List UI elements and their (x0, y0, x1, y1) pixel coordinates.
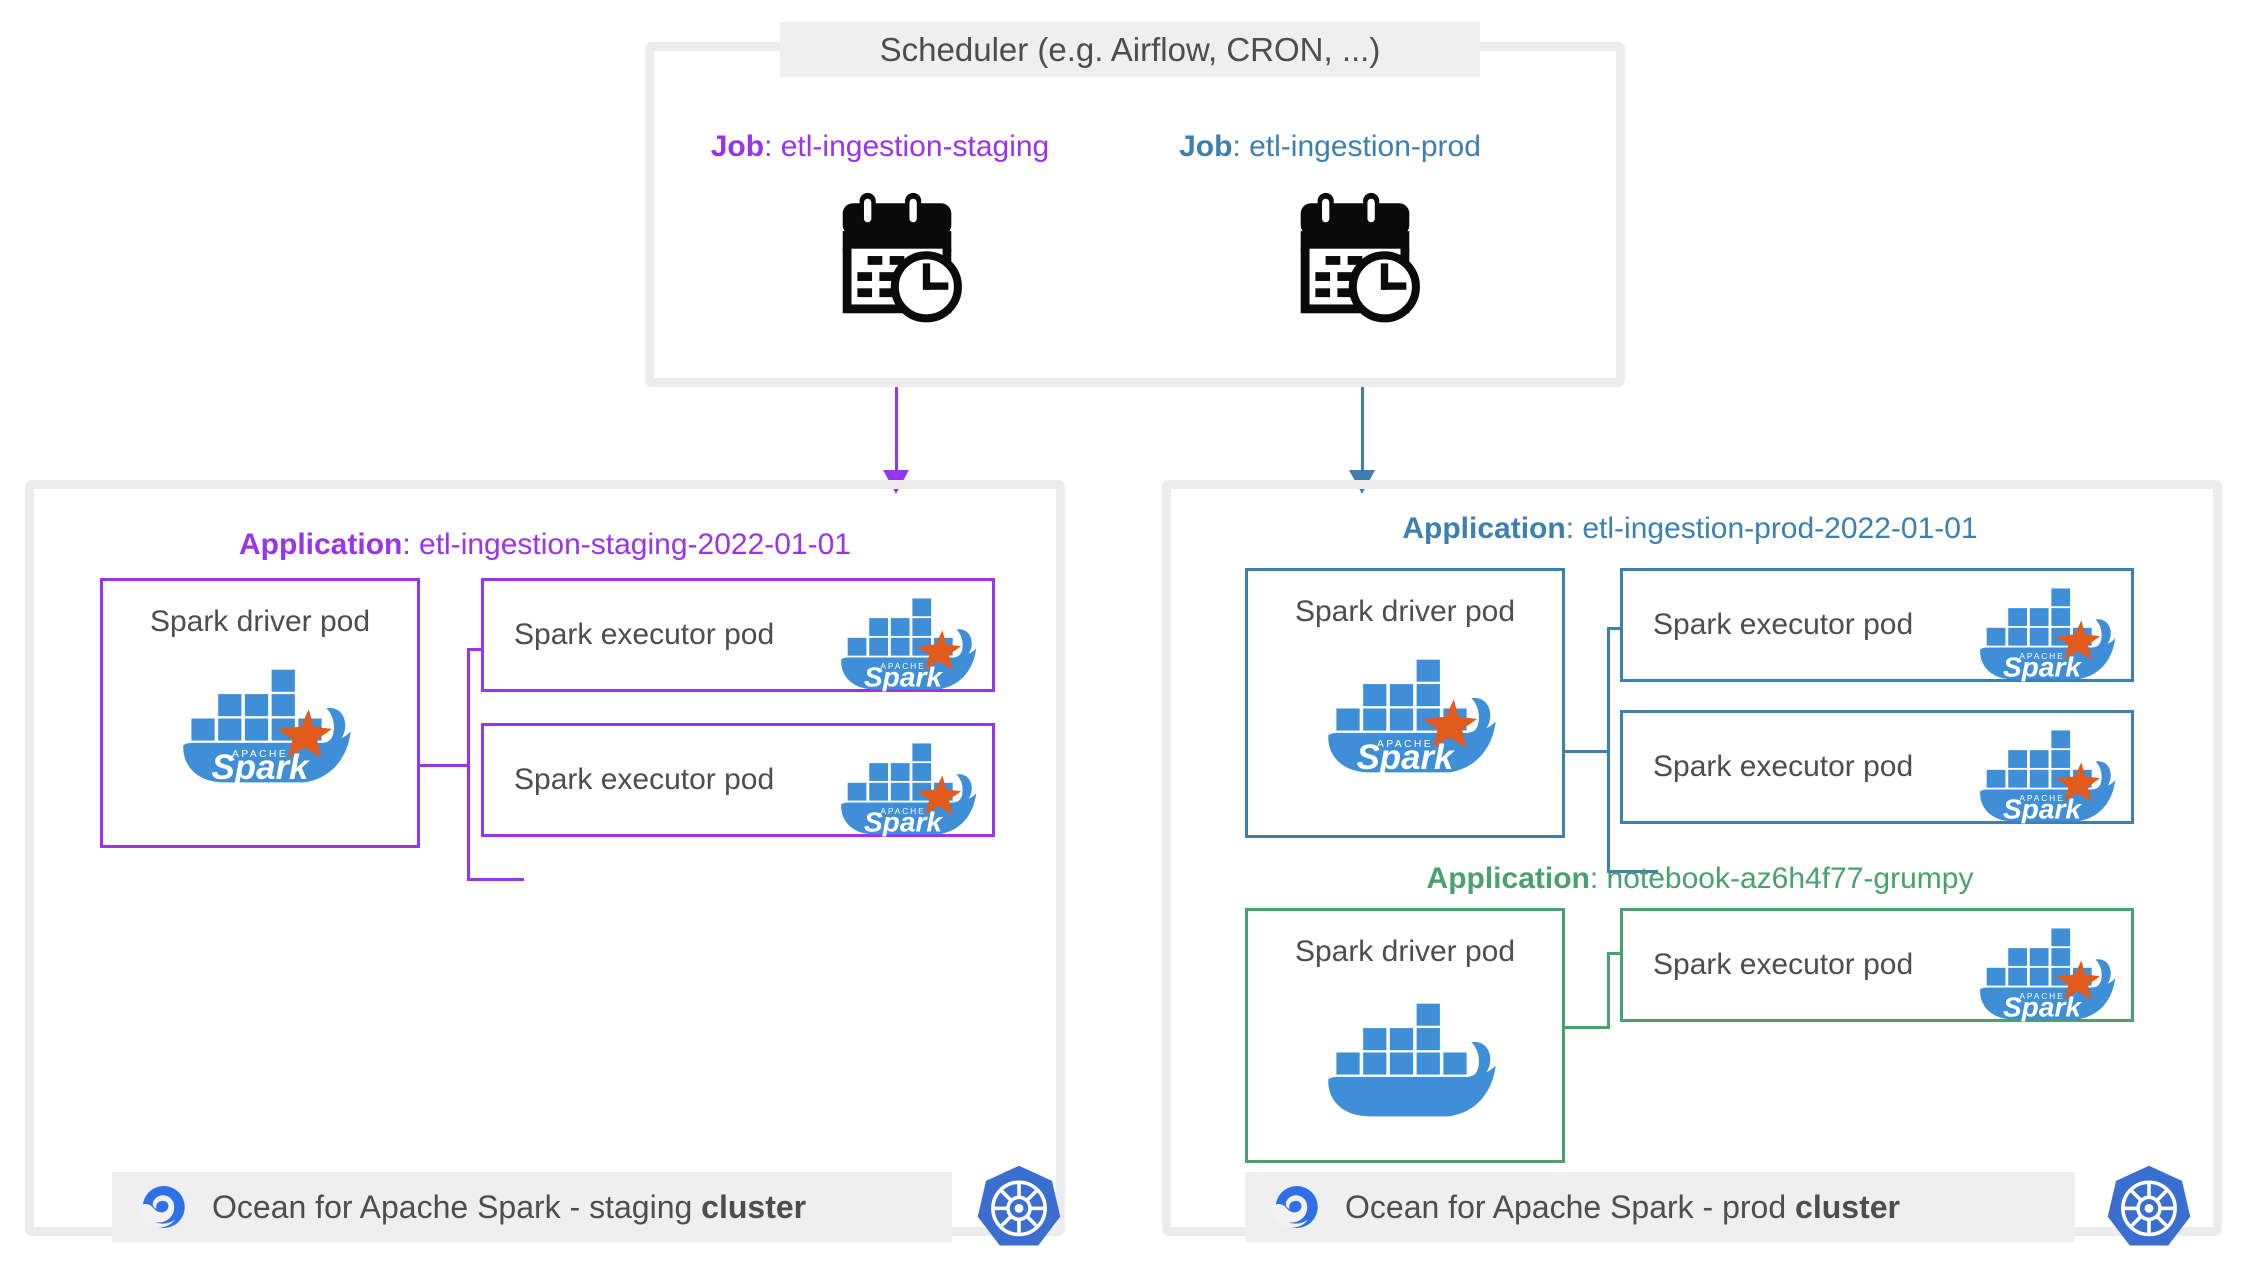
cluster-footer-text-staging: Ocean for Apache Spark - staging cluster (212, 1189, 806, 1226)
cluster-footer-bold-prod: cluster (1795, 1189, 1900, 1225)
application-key-staging: Application (239, 528, 402, 561)
spark-docker-whale-icon-executor-prod-2: APACHE Spark (1967, 711, 2117, 824)
spark-docker-whale-icon-driver-prod: APACHE Spark (1312, 635, 1498, 775)
connector-prod-driver-stub (1563, 750, 1610, 753)
application-key-prod: Application (1402, 512, 1565, 545)
application-sep-prod: : (1566, 512, 1583, 545)
application-label-notebook: Application: notebook-az6h4f77-grumpy (1290, 862, 2110, 896)
spark-docker-whale-icon-executor-staging-2: APACHE Spark (828, 724, 978, 837)
svg-text:Spark: Spark (2003, 992, 2082, 1022)
application-sep-staging: : (402, 528, 419, 561)
kubernetes-helm-icon-staging (975, 1163, 1063, 1251)
job-sep-prod: : (1232, 130, 1249, 163)
cluster-footer-bold-staging: cluster (701, 1189, 806, 1225)
connector-staging-driver-stub (420, 764, 470, 767)
application-key-notebook: Application (1427, 862, 1590, 895)
pod-executor-label-staging-1: Spark executor pod (514, 618, 774, 652)
job-name-staging: etl-ingestion-staging (781, 130, 1050, 163)
pod-executor-label-notebook-1: Spark executor pod (1653, 948, 1913, 982)
application-label-staging: Application: etl-ingestion-staging-2022-… (130, 528, 960, 562)
docker-whale-icon-driver-notebook (1312, 979, 1498, 1119)
pod-driver-prod[interactable]: Spark driver pod APACHE Spark (1245, 568, 1565, 838)
cluster-footer-text-prod: Ocean for Apache Spark - prod cluster (1345, 1189, 1900, 1226)
pod-driver-notebook[interactable]: Spark driver pod (1245, 908, 1565, 1163)
calendar-clock-icon-staging (822, 190, 972, 325)
svg-text:Spark: Spark (2003, 794, 2082, 824)
job-key-staging: Job (711, 130, 764, 163)
scheduler-container (645, 42, 1625, 387)
pod-executor-notebook-1[interactable]: Spark executor pod APACHE Spark (1620, 908, 2134, 1022)
pod-driver-label-prod: Spark driver pod (1295, 595, 1515, 629)
diagram-canvas: Scheduler (e.g. Airflow, CRON, ...) Job:… (0, 0, 2248, 1262)
pod-driver-label-staging: Spark driver pod (150, 605, 370, 639)
job-key-prod: Job (1179, 130, 1232, 163)
pod-executor-staging-2[interactable]: Spark executor pod APACHE Spark (481, 723, 995, 837)
svg-text:Spark: Spark (212, 748, 310, 785)
application-name-staging: etl-ingestion-staging-2022-01-01 (419, 528, 851, 561)
pod-executor-prod-2[interactable]: Spark executor pod APACHE Spark (1620, 710, 2134, 824)
calendar-clock-icon-prod (1280, 190, 1430, 325)
svg-text:Spark: Spark (864, 807, 943, 837)
cluster-footer-prod: Ocean for Apache Spark - prod cluster (1245, 1172, 2075, 1242)
cluster-footer-prefix-staging: Ocean for Apache Spark - staging (212, 1189, 701, 1225)
kubernetes-helm-icon-prod (2105, 1163, 2193, 1251)
connector-notebook-trunk (1607, 952, 1610, 1029)
connector-staging-branch-2 (467, 878, 524, 881)
application-name-prod: etl-ingestion-prod-2022-01-01 (1582, 512, 1977, 545)
svg-text:Spark: Spark (864, 662, 943, 692)
job-name-prod: etl-ingestion-prod (1249, 130, 1481, 163)
svg-text:Spark: Spark (2003, 652, 2082, 682)
spark-docker-whale-icon-executor-notebook-1: APACHE Spark (1967, 909, 2117, 1022)
arrow-prod-stem (1361, 387, 1364, 477)
job-sep-staging: : (764, 130, 781, 163)
pod-executor-prod-1[interactable]: Spark executor pod APACHE Spark (1620, 568, 2134, 682)
pod-executor-staging-1[interactable]: Spark executor pod APACHE Spark (481, 578, 995, 692)
job-label-staging: Job: etl-ingestion-staging (650, 130, 1110, 164)
connector-staging-trunk (467, 648, 470, 881)
svg-text:Spark: Spark (1357, 738, 1455, 775)
pod-driver-label-notebook: Spark driver pod (1295, 935, 1515, 969)
job-label-prod: Job: etl-ingestion-prod (1110, 130, 1550, 164)
connector-prod-trunk (1607, 627, 1610, 873)
spark-docker-whale-icon-driver-staging: APACHE Spark (167, 645, 353, 785)
scheduler-title: Scheduler (e.g. Airflow, CRON, ...) (780, 22, 1480, 77)
pod-executor-label-prod-2: Spark executor pod (1653, 750, 1913, 784)
application-name-notebook: notebook-az6h4f77-grumpy (1607, 862, 1974, 895)
arrow-staging-stem (895, 387, 898, 477)
application-sep-notebook: : (1590, 862, 1607, 895)
application-label-prod: Application: etl-ingestion-prod-2022-01-… (1230, 512, 2150, 546)
pod-executor-label-staging-2: Spark executor pod (514, 763, 774, 797)
pod-driver-staging[interactable]: Spark driver pod APACHE Spark (100, 578, 420, 848)
ocean-wave-icon-staging (134, 1179, 190, 1235)
spark-docker-whale-icon-executor-prod-1: APACHE Spark (1967, 569, 2117, 682)
pod-executor-label-prod-1: Spark executor pod (1653, 608, 1913, 642)
cluster-footer-prefix-prod: Ocean for Apache Spark - prod (1345, 1189, 1795, 1225)
spark-docker-whale-icon-executor-staging-1: APACHE Spark (828, 579, 978, 692)
connector-notebook-driver-stub (1563, 1026, 1610, 1029)
ocean-wave-icon-prod (1267, 1179, 1323, 1235)
cluster-footer-staging: Ocean for Apache Spark - staging cluster (112, 1172, 952, 1242)
